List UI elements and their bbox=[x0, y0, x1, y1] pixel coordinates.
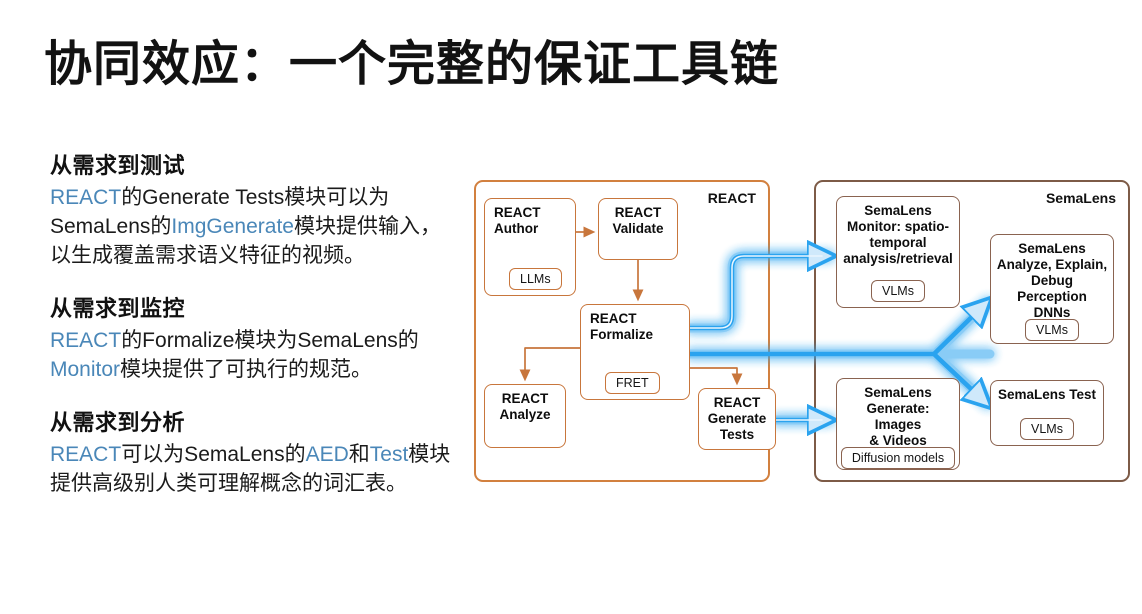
node-title: REACT Generate Tests bbox=[703, 389, 772, 443]
section-body-2: REACT的Formalize模块为SemaLens的Monitor模块提供了可… bbox=[50, 327, 455, 385]
highlight-term: Monitor bbox=[50, 358, 120, 381]
subbox-wrap: VLMs bbox=[871, 282, 925, 300]
section-heading-1: 从需求到测试 bbox=[50, 148, 455, 180]
body-text: 和 bbox=[349, 443, 370, 466]
node-title: SemaLens Generate: Images & Videos bbox=[837, 379, 959, 449]
highlight-term: REACT bbox=[50, 443, 121, 466]
body-text: 的Formalize模块为SemaLens的 bbox=[121, 329, 419, 352]
node-react-formalize[interactable]: REACT Formalize FRET bbox=[580, 304, 690, 400]
body-text: 可以为SemaLens的 bbox=[121, 443, 305, 466]
node-title: REACT Author bbox=[485, 199, 546, 237]
subbox-wrap: Diffusion models bbox=[841, 449, 955, 467]
highlight-term: Test bbox=[370, 443, 409, 466]
node-semalens-monitor[interactable]: SemaLens Monitor: spatio- temporal analy… bbox=[836, 196, 960, 308]
node-react-generate-tests[interactable]: REACT Generate Tests bbox=[698, 388, 776, 450]
section-heading-2: 从需求到监控 bbox=[50, 291, 455, 323]
node-semalens-analyze[interactable]: SemaLens Analyze, Explain, Debug Percept… bbox=[990, 234, 1114, 344]
node-title: SemaLens Analyze, Explain, Debug Percept… bbox=[991, 235, 1113, 321]
highlight-term: ImgGenerate bbox=[171, 215, 294, 238]
subbox-wrap: FRET bbox=[605, 374, 660, 392]
subbox-wrap: LLMs bbox=[509, 270, 562, 288]
panel-label-react: REACT bbox=[708, 190, 756, 206]
subbox-fret: FRET bbox=[605, 372, 660, 394]
subbox-vlms: VLMs bbox=[1025, 319, 1079, 341]
highlight-term: AED bbox=[306, 443, 349, 466]
section-body-1: REACT的Generate Tests模块可以为SemaLens的ImgGen… bbox=[50, 184, 455, 271]
node-title: REACT Analyze bbox=[494, 385, 555, 423]
section-body-3: REACT可以为SemaLens的AED和Test模块提供高级别人类可理解概念的… bbox=[50, 441, 455, 499]
architecture-diagram: REACT SemaLens REACT Author LLMs REACT V… bbox=[470, 172, 1130, 492]
text-column: 从需求到测试 REACT的Generate Tests模块可以为SemaLens… bbox=[50, 148, 455, 499]
panel-label-semalens: SemaLens bbox=[1046, 190, 1116, 206]
node-semalens-test[interactable]: SemaLens Test VLMs bbox=[990, 380, 1104, 446]
node-react-analyze[interactable]: REACT Analyze bbox=[484, 384, 566, 448]
subbox-wrap: VLMs bbox=[1025, 321, 1079, 339]
node-title: REACT Validate bbox=[607, 199, 668, 237]
node-react-validate[interactable]: REACT Validate bbox=[598, 198, 678, 260]
subbox-vlms: VLMs bbox=[1020, 418, 1074, 440]
node-title: REACT Formalize bbox=[581, 305, 658, 343]
subbox-diffusion-models: Diffusion models bbox=[841, 447, 955, 469]
subbox-llms: LLMs bbox=[509, 268, 562, 290]
section-heading-3: 从需求到分析 bbox=[50, 405, 455, 437]
node-title: SemaLens Test bbox=[993, 381, 1101, 403]
body-text: 模块提供了可执行的规范。 bbox=[120, 358, 372, 381]
subbox-wrap: VLMs bbox=[1020, 420, 1074, 438]
highlight-term: REACT bbox=[50, 186, 121, 209]
highlight-term: REACT bbox=[50, 329, 121, 352]
node-title: SemaLens Monitor: spatio- temporal analy… bbox=[838, 197, 958, 267]
node-semalens-generate[interactable]: SemaLens Generate: Images & Videos Diffu… bbox=[836, 378, 960, 470]
subbox-vlms: VLMs bbox=[871, 280, 925, 302]
node-react-author[interactable]: REACT Author LLMs bbox=[484, 198, 576, 296]
page-title: 协同效应：一个完整的保证工具链 bbox=[44, 24, 779, 94]
